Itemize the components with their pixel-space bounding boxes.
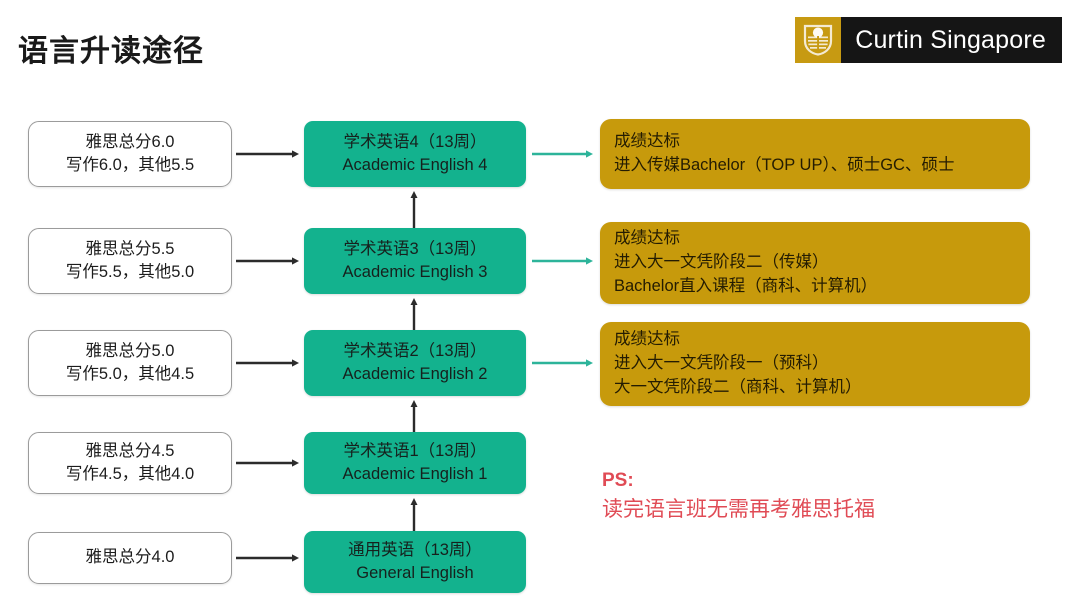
course-line: 通用英语（13周） [348, 539, 482, 562]
arrow-right-icon-ielts-to-course-general [236, 552, 300, 564]
ielts-requirement-box-level-3: 雅思总分5.5 写作5.5，其他5.0 [28, 228, 232, 294]
page-title: 语言升读途径 [18, 26, 204, 70]
ielts-line: 雅思总分4.5 [86, 440, 175, 463]
outcome-line: 进入传媒Bachelor（TOP UP）、硕士GC、硕士 [614, 154, 1016, 178]
outcome-box-level-4: 成绩达标 进入传媒Bachelor（TOP UP）、硕士GC、硕士 [600, 119, 1030, 189]
arrow-right-icon-course-to-outcome-3 [532, 255, 594, 267]
outcome-line: 进入大一文凭阶段一（预科） [614, 352, 1016, 376]
arrow-right-icon-course-to-outcome-2 [532, 357, 594, 369]
ielts-requirement-box-level-1: 雅思总分4.5 写作4.5，其他4.0 [28, 432, 232, 494]
course-box-general-english: 通用英语（13周） General English [304, 531, 526, 593]
ielts-line: 雅思总分6.0 [86, 131, 175, 154]
outcome-line: 大一文凭阶段二（商科、计算机） [614, 376, 1016, 400]
outcome-box-level-2: 成绩达标 进入大一文凭阶段一（预科） 大一文凭阶段二（商科、计算机） [600, 322, 1030, 406]
course-line: 学术英语1（13周） [343, 440, 486, 463]
ielts-line: 雅思总分4.0 [86, 546, 175, 569]
arrow-right-icon-ielts-to-course-4 [236, 148, 300, 160]
arrow-up-icon-general-to-1 [408, 497, 420, 533]
outcome-line: 成绩达标 [614, 227, 1016, 251]
arrow-up-icon-3-to-4 [408, 190, 420, 232]
ielts-line: 写作4.5，其他4.0 [66, 463, 194, 486]
brand-wordmark: Curtin Singapore [841, 17, 1062, 63]
outcome-line: 进入大一文凭阶段二（传媒） [614, 251, 1016, 275]
ielts-line: 写作5.5，其他5.0 [66, 261, 194, 284]
outcome-line: 成绩达标 [614, 130, 1016, 154]
ielts-requirement-box-level-2: 雅思总分5.0 写作5.0，其他4.5 [28, 330, 232, 396]
ps-label: PS: [602, 468, 875, 494]
course-line: Academic English 1 [343, 463, 488, 486]
ielts-line: 雅思总分5.5 [86, 238, 175, 261]
course-line: General English [356, 562, 473, 585]
curtin-shield-icon [795, 17, 841, 63]
ielts-line: 雅思总分5.0 [86, 340, 175, 363]
course-line: Academic English 3 [343, 261, 488, 284]
outcome-line: Bachelor直入课程（商科、计算机） [614, 275, 1016, 299]
ielts-requirement-box-level-4: 雅思总分6.0 写作6.0，其他5.5 [28, 121, 232, 187]
course-line: 学术英语3（13周） [343, 238, 486, 261]
ielts-line: 写作6.0，其他5.5 [66, 154, 194, 177]
arrow-right-icon-ielts-to-course-1 [236, 457, 300, 469]
outcome-box-level-3: 成绩达标 进入大一文凭阶段二（传媒） Bachelor直入课程（商科、计算机） [600, 222, 1030, 304]
course-box-academic-english-4: 学术英语4（13周） Academic English 4 [304, 121, 526, 187]
arrow-right-icon-ielts-to-course-3 [236, 255, 300, 267]
brand-logo: Curtin Singapore [795, 17, 1062, 63]
course-box-academic-english-3: 学术英语3（13周） Academic English 3 [304, 228, 526, 294]
course-box-academic-english-1: 学术英语1（13周） Academic English 1 [304, 432, 526, 494]
ielts-line: 写作5.0，其他4.5 [66, 363, 194, 386]
ps-note: PS: 读完语言班无需再考雅思托福 [602, 468, 875, 525]
ielts-requirement-box-general: 雅思总分4.0 [28, 532, 232, 584]
course-line: Academic English 2 [343, 363, 488, 386]
outcome-line: 成绩达标 [614, 328, 1016, 352]
ps-text: 读完语言班无需再考雅思托福 [602, 494, 875, 526]
course-box-academic-english-2: 学术英语2（13周） Academic English 2 [304, 330, 526, 396]
arrow-right-icon-ielts-to-course-2 [236, 357, 300, 369]
course-line: Academic English 4 [343, 154, 488, 177]
slide-canvas: 语言升读途径 Curtin Singapore 雅思总分6.0 写作6.0，其他… [0, 0, 1080, 607]
arrow-right-icon-course-to-outcome-4 [532, 148, 594, 160]
course-line: 学术英语4（13周） [343, 131, 486, 154]
course-line: 学术英语2（13周） [343, 340, 486, 363]
